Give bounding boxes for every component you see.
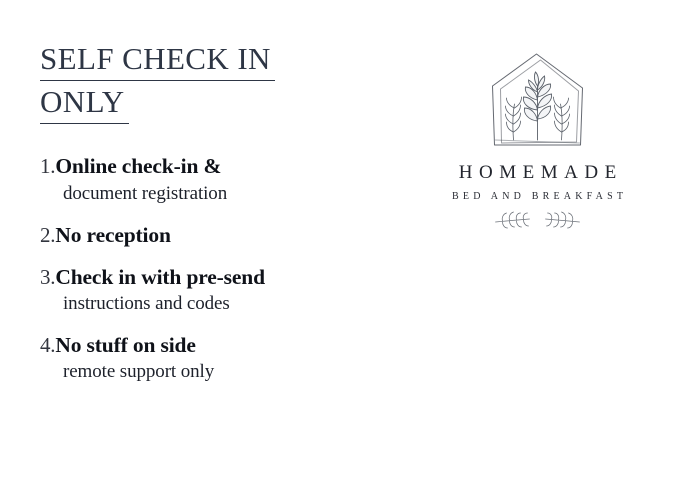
- page-title-line-1: SELF CHECK IN: [40, 38, 271, 81]
- page-title: SELF CHECK IN ONLY: [40, 38, 330, 124]
- list-item-title: Online check-in &: [55, 154, 221, 179]
- twin-leaf-sprig-ornament-icon: [490, 210, 586, 230]
- list-item-heading: 2. No reception: [40, 223, 375, 248]
- list-item-number: 2.: [40, 223, 55, 248]
- list-item: 3. Check in with pre-send instructions a…: [40, 265, 375, 316]
- list-item-number: 4.: [40, 333, 55, 358]
- list-item-heading: 3. Check in with pre-send: [40, 265, 375, 290]
- logo-wordmark: HOMEMADE: [430, 162, 645, 184]
- list-item-number: 1.: [40, 154, 55, 179]
- list-item-title: No stuff on side: [55, 333, 195, 358]
- slide-canvas: SELF CHECK IN ONLY 1. Online check-in & …: [0, 0, 700, 500]
- checkin-steps-list: 1. Online check-in & document registrati…: [40, 154, 375, 384]
- list-item: 4. No stuff on side remote support only: [40, 333, 375, 384]
- logo-tagline: BED AND BREAKFAST: [430, 191, 645, 202]
- page-title-line-2: ONLY: [40, 81, 125, 124]
- list-item-title: Check in with pre-send: [55, 265, 265, 290]
- logo-column: HOMEMADE BED AND BREAKFAST: [375, 0, 700, 500]
- list-item-heading: 4. No stuff on side: [40, 333, 375, 358]
- list-item-title: No reception: [55, 223, 170, 248]
- list-item-subtext: instructions and codes: [63, 293, 375, 316]
- list-item: 1. Online check-in & document registrati…: [40, 154, 375, 205]
- list-item-subtext: remote support only: [63, 361, 375, 384]
- list-item-subtext: document registration: [63, 183, 375, 206]
- brand-logo: HOMEMADE BED AND BREAKFAST: [430, 48, 645, 230]
- list-item-heading: 1. Online check-in &: [40, 154, 375, 179]
- house-with-botanicals-icon: [473, 48, 603, 153]
- content-column: SELF CHECK IN ONLY 1. Online check-in & …: [0, 0, 375, 500]
- list-item: 2. No reception: [40, 223, 375, 248]
- list-item-number: 3.: [40, 265, 55, 290]
